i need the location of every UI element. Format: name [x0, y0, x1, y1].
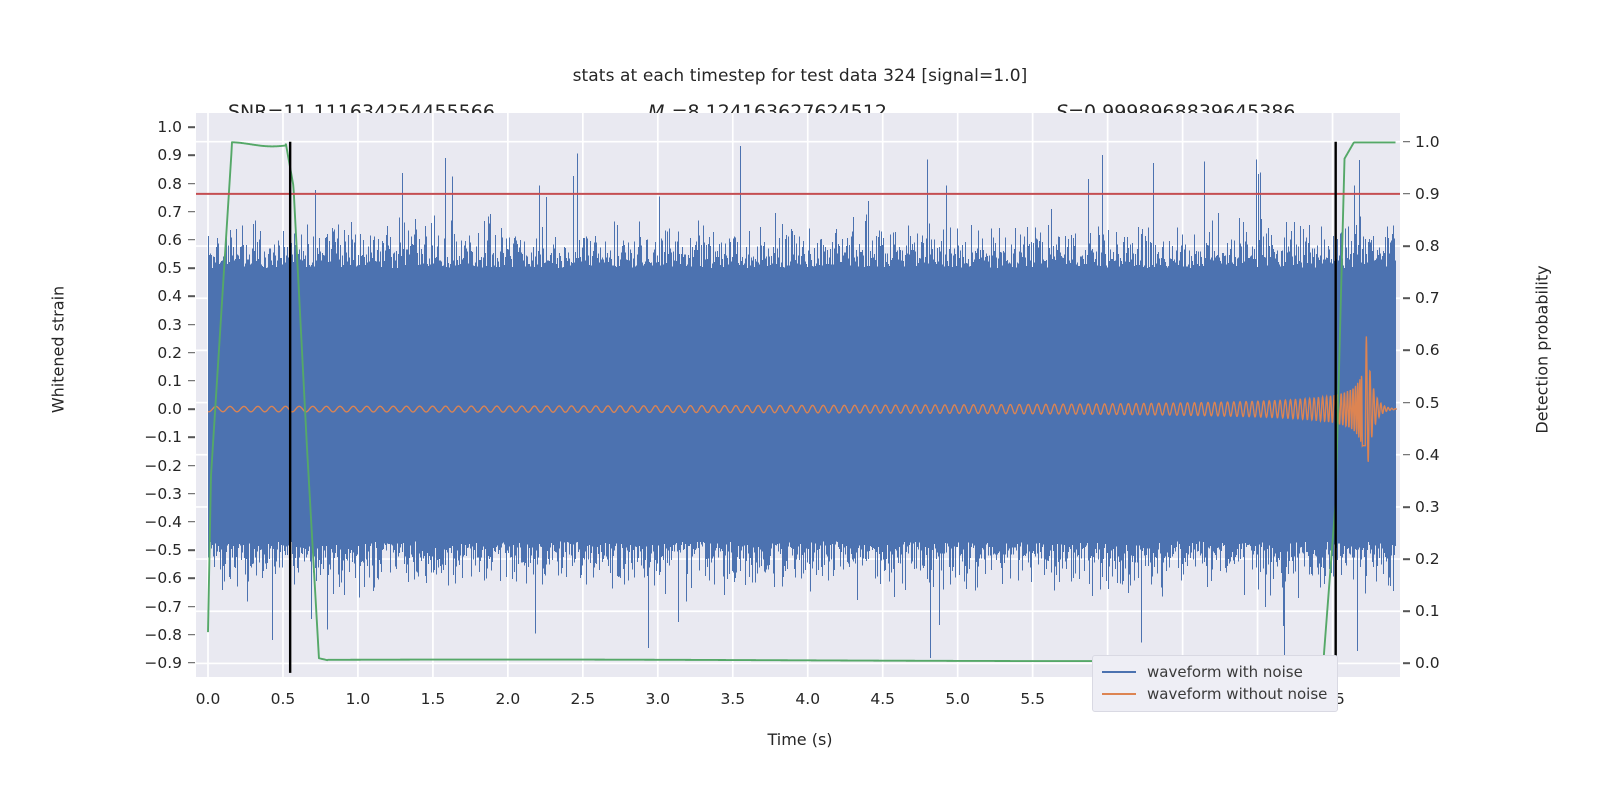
y-tick-label-left: −0.2 — [112, 457, 182, 475]
noise-core-band — [208, 343, 1396, 470]
y-tick-mark-left — [188, 352, 195, 354]
y-axis-label-right: Detection probability — [1533, 240, 1552, 460]
y-tick-label-right: 0.2 — [1415, 550, 1485, 568]
x-tick-label: 2.5 — [543, 690, 623, 708]
y-tick-mark-left — [188, 662, 195, 664]
plot-canvas — [196, 113, 1400, 677]
y-tick-label-left: 0.9 — [112, 146, 182, 164]
y-tick-label-left: −0.6 — [112, 569, 182, 587]
page-title: stats at each timestep for test data 324… — [0, 66, 1600, 86]
y-tick-label-left: 0.8 — [112, 175, 182, 193]
y-axis-label-left: Whitened strain — [49, 240, 68, 460]
y-tick-mark-left — [188, 578, 195, 580]
y-tick-mark-left — [188, 267, 195, 269]
y-tick-mark-right — [1403, 506, 1410, 508]
y-tick-mark-right — [1403, 245, 1410, 247]
x-tick-label: 1.5 — [393, 690, 473, 708]
x-axis-label: Time (s) — [0, 730, 1600, 749]
y-tick-label-right: 0.3 — [1415, 498, 1485, 516]
x-tick-label: 2.0 — [468, 690, 548, 708]
y-tick-label-right: 0.7 — [1415, 289, 1485, 307]
noise-core — [208, 343, 1396, 470]
y-tick-mark-left — [188, 606, 195, 608]
x-tick-label: 3.5 — [693, 690, 773, 708]
y-tick-mark-left — [188, 183, 195, 185]
y-tick-label-right: 0.8 — [1415, 237, 1485, 255]
y-tick-mark-left — [188, 239, 195, 241]
legend-item: waveform with noise — [1102, 661, 1328, 683]
y-tick-label-right: 1.0 — [1415, 133, 1485, 151]
y-tick-label-right: 0.6 — [1415, 341, 1485, 359]
y-tick-label-left: −0.1 — [112, 428, 182, 446]
y-tick-label-left: 0.4 — [112, 287, 182, 305]
x-tick-label: 0.0 — [168, 690, 248, 708]
y-tick-label-left: 0.2 — [112, 344, 182, 362]
y-tick-label-right: 0.4 — [1415, 446, 1485, 464]
y-tick-mark-left — [188, 380, 195, 382]
y-tick-mark-left — [188, 521, 195, 523]
y-tick-mark-left — [188, 549, 195, 551]
plot-area — [196, 113, 1400, 677]
y-tick-label-left: −0.9 — [112, 654, 182, 672]
y-tick-mark-right — [1403, 141, 1410, 143]
y-tick-label-left: 1.0 — [112, 118, 182, 136]
x-tick-label: 1.0 — [318, 690, 398, 708]
x-tick-label: 4.0 — [768, 690, 848, 708]
y-tick-mark-left — [188, 324, 195, 326]
y-tick-mark-left — [188, 126, 195, 128]
y-tick-mark-left — [188, 211, 195, 213]
legend-item: waveform without noise — [1102, 683, 1328, 705]
legend-label-signal: waveform without noise — [1147, 685, 1327, 703]
x-tick-label: 5.0 — [918, 690, 998, 708]
y-tick-label-left: −0.4 — [112, 513, 182, 531]
x-tick-label: 4.5 — [843, 690, 923, 708]
y-tick-label-left: −0.5 — [112, 541, 182, 559]
y-tick-label-left: 0.3 — [112, 316, 182, 334]
y-tick-mark-left — [188, 296, 195, 298]
y-tick-label-left: 0.7 — [112, 203, 182, 221]
legend: waveform with noise waveform without noi… — [1092, 655, 1338, 712]
y-tick-label-left: −0.3 — [112, 485, 182, 503]
x-tick-label: 0.5 — [243, 690, 323, 708]
legend-swatch-signal — [1102, 693, 1136, 695]
y-tick-label-left: 0.0 — [112, 400, 182, 418]
y-tick-mark-right — [1403, 297, 1410, 299]
legend-swatch-noise — [1102, 671, 1136, 673]
y-tick-mark-left — [188, 493, 195, 495]
y-tick-mark-left — [188, 465, 195, 467]
legend-label-noise: waveform with noise — [1147, 663, 1303, 681]
y-tick-mark-right — [1403, 402, 1410, 404]
matplotlib-figure: stats at each timestep for test data 324… — [0, 0, 1600, 800]
x-tick-label: 3.0 — [618, 690, 698, 708]
y-tick-label-right: 0.9 — [1415, 185, 1485, 203]
y-tick-mark-right — [1403, 193, 1410, 195]
y-tick-mark-left — [188, 437, 195, 439]
y-tick-mark-right — [1403, 610, 1410, 612]
y-tick-label-left: −0.7 — [112, 598, 182, 616]
y-tick-label-left: −0.8 — [112, 626, 182, 644]
y-tick-mark-right — [1403, 350, 1410, 352]
y-tick-mark-right — [1403, 454, 1410, 456]
y-tick-label-left: 0.1 — [112, 372, 182, 390]
y-tick-label-right: 0.1 — [1415, 602, 1485, 620]
y-tick-mark-right — [1403, 663, 1410, 665]
y-tick-mark-left — [188, 408, 195, 410]
y-tick-mark-left — [188, 155, 195, 157]
y-tick-mark-right — [1403, 558, 1410, 560]
y-tick-label-right: 0.0 — [1415, 654, 1485, 672]
y-tick-label-right: 0.5 — [1415, 394, 1485, 412]
y-tick-mark-left — [188, 634, 195, 636]
y-tick-label-left: 0.5 — [112, 259, 182, 277]
y-tick-label-left: 0.6 — [112, 231, 182, 249]
x-tick-label: 5.5 — [993, 690, 1073, 708]
